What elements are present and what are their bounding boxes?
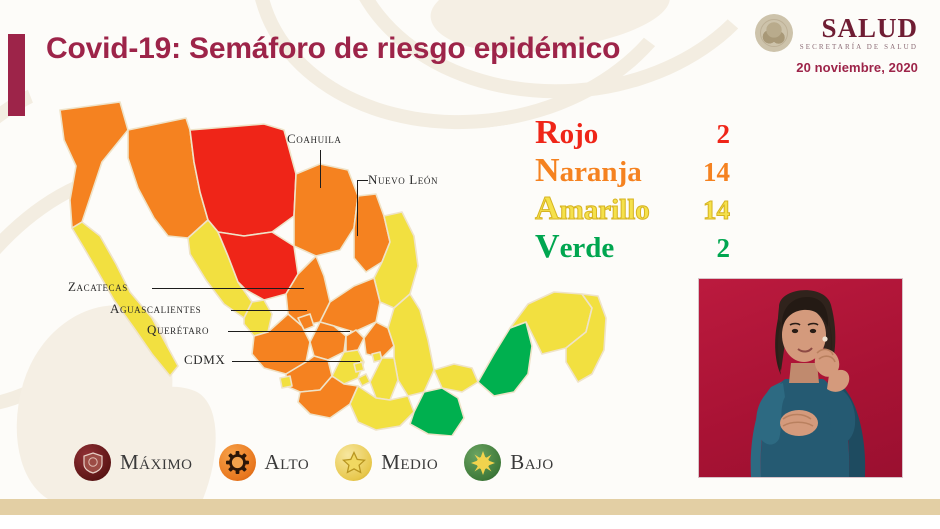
state-cdmx xyxy=(354,362,364,372)
leader-nuevo-leon xyxy=(357,180,368,181)
legend-label-maximo: Máximo xyxy=(120,450,193,475)
legend-item-medio: Medio xyxy=(335,444,438,481)
state-baja-california xyxy=(60,102,128,228)
title-accent-bar xyxy=(8,34,25,116)
sunburst-icon xyxy=(464,444,501,481)
callout-queretaro: Querétaro xyxy=(147,322,209,338)
count-value-verde: 2 xyxy=(717,235,731,262)
star-icon xyxy=(335,444,372,481)
legend-item-maximo: Máximo xyxy=(74,444,193,481)
callout-zacatecas: Zacatecas xyxy=(68,279,128,295)
salud-logo-block: SALUD SECRETARÍA DE SALUD 20 noviembre, … xyxy=(755,14,918,75)
state-baja-california-sur xyxy=(72,222,178,376)
legend-label-alto: Alto xyxy=(265,450,310,475)
callout-cdmx: CDMX xyxy=(184,352,225,368)
count-value-amarillo: 14 xyxy=(703,197,730,224)
state-chiapas xyxy=(410,388,464,436)
state-coahuila xyxy=(294,164,358,256)
bottom-white-strip xyxy=(0,515,940,529)
state-campeche xyxy=(478,322,532,396)
callout-aguascalientes: Aguascalientes xyxy=(110,301,201,317)
slide-canvas: Covid-19: Semáforo de riesgo epidémico S… xyxy=(0,0,940,529)
bottom-accent-band xyxy=(0,499,940,515)
shield-icon xyxy=(74,444,111,481)
leader-coahuila xyxy=(320,150,321,188)
legend-label-bajo: Bajo xyxy=(510,450,554,475)
mexico-risk-map xyxy=(58,96,658,436)
callout-coahuila: Coahuila xyxy=(287,131,341,147)
salud-wordmark: SALUD xyxy=(800,15,918,42)
state-queretaro xyxy=(346,330,364,352)
leader-queretaro xyxy=(228,331,350,332)
state-morelos xyxy=(358,374,370,386)
legend-label-medio: Medio xyxy=(381,450,438,475)
risk-legend: Máximo Alto Medio Bajo xyxy=(74,444,554,481)
legend-item-alto: Alto xyxy=(219,444,310,481)
leader-nuevo-leon-vert xyxy=(357,180,358,236)
leader-zacatecas xyxy=(152,288,304,289)
state-colima xyxy=(280,376,292,388)
sign-language-interpreter-feed[interactable] xyxy=(698,278,903,478)
leader-aguascalientes xyxy=(231,310,307,311)
page-title: Covid-19: Semáforo de riesgo epidémico xyxy=(46,32,620,66)
state-puebla xyxy=(370,358,398,400)
mexico-eagle-seal-icon xyxy=(755,14,793,52)
count-value-naranja: 14 xyxy=(703,159,730,186)
leader-cdmx xyxy=(232,361,360,362)
callout-nuevo-leon: Nuevo León xyxy=(368,172,438,188)
gear-icon xyxy=(219,444,256,481)
salud-subtitle: SECRETARÍA DE SALUD xyxy=(800,44,918,51)
count-value-rojo: 2 xyxy=(717,121,731,148)
slide-date: 20 noviembre, 2020 xyxy=(755,60,918,75)
interpreter-figure xyxy=(699,279,902,477)
legend-item-bajo: Bajo xyxy=(464,444,554,481)
